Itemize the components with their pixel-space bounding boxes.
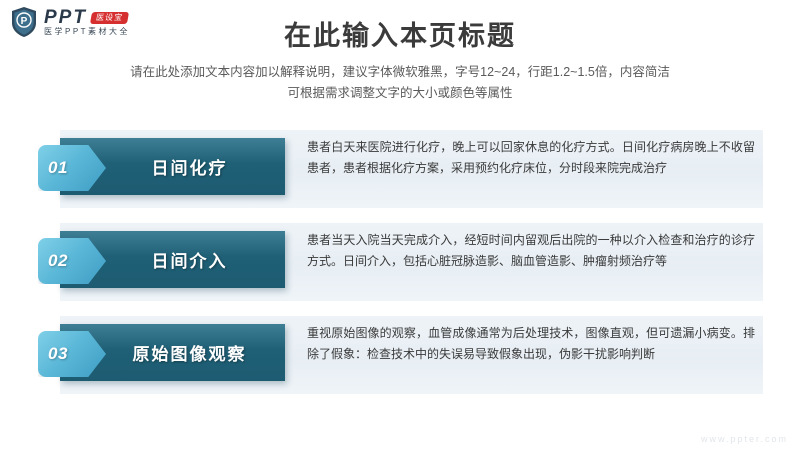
row-label-text: 日间化疗 bbox=[118, 154, 228, 179]
slide-canvas: P PPT 医设宝 医学PPT素材大全 在此输入本页标题 请在此处添加文本内容加… bbox=[0, 0, 800, 450]
row-body-text: 重视原始图像的观察，血管成像通常为后处理技术，图像直观，但可遗漏小病变。排除了假… bbox=[307, 323, 755, 364]
row-label-text: 原始图像观察 bbox=[99, 340, 247, 365]
row-number-text: 01 bbox=[38, 158, 68, 178]
footer-watermark: www.ppter.com bbox=[701, 434, 788, 444]
row-number-text: 02 bbox=[38, 251, 68, 271]
row-body-text: 患者当天入院当天完成介入，经短时间内留观后出院的一种以介入检查和治疗的诊疗方式。… bbox=[307, 230, 755, 271]
row-number-text: 03 bbox=[38, 344, 68, 364]
subtitle-line-1: 请在此处添加文本内容加以解释说明，建议字体微软雅黑，字号12~24，行距1.2~… bbox=[0, 62, 800, 83]
row-body-text: 患者白天来医院进行化疗，晚上可以回家休息的化疗方式。日间化疗病房晚上不收留患者，… bbox=[307, 137, 755, 178]
content-row: 日间介入 02 患者当天入院当天完成介入，经短时间内留观后出院的一种以介入检查和… bbox=[0, 223, 800, 301]
row-label-text: 日间介入 bbox=[118, 247, 228, 272]
content-row: 原始图像观察 03 重视原始图像的观察，血管成像通常为后处理技术，图像直观，但可… bbox=[0, 316, 800, 394]
content-rows: 日间化疗 01 患者白天来医院进行化疗，晚上可以回家休息的化疗方式。日间化疗病房… bbox=[0, 130, 800, 409]
subtitle-line-2: 可根据需求调整文字的大小或颜色等属性 bbox=[0, 83, 800, 104]
page-title: 在此输入本页标题 bbox=[0, 14, 800, 53]
page-subtitle: 请在此处添加文本内容加以解释说明，建议字体微软雅黑，字号12~24，行距1.2~… bbox=[0, 62, 800, 103]
content-row: 日间化疗 01 患者白天来医院进行化疗，晚上可以回家休息的化疗方式。日间化疗病房… bbox=[0, 130, 800, 208]
